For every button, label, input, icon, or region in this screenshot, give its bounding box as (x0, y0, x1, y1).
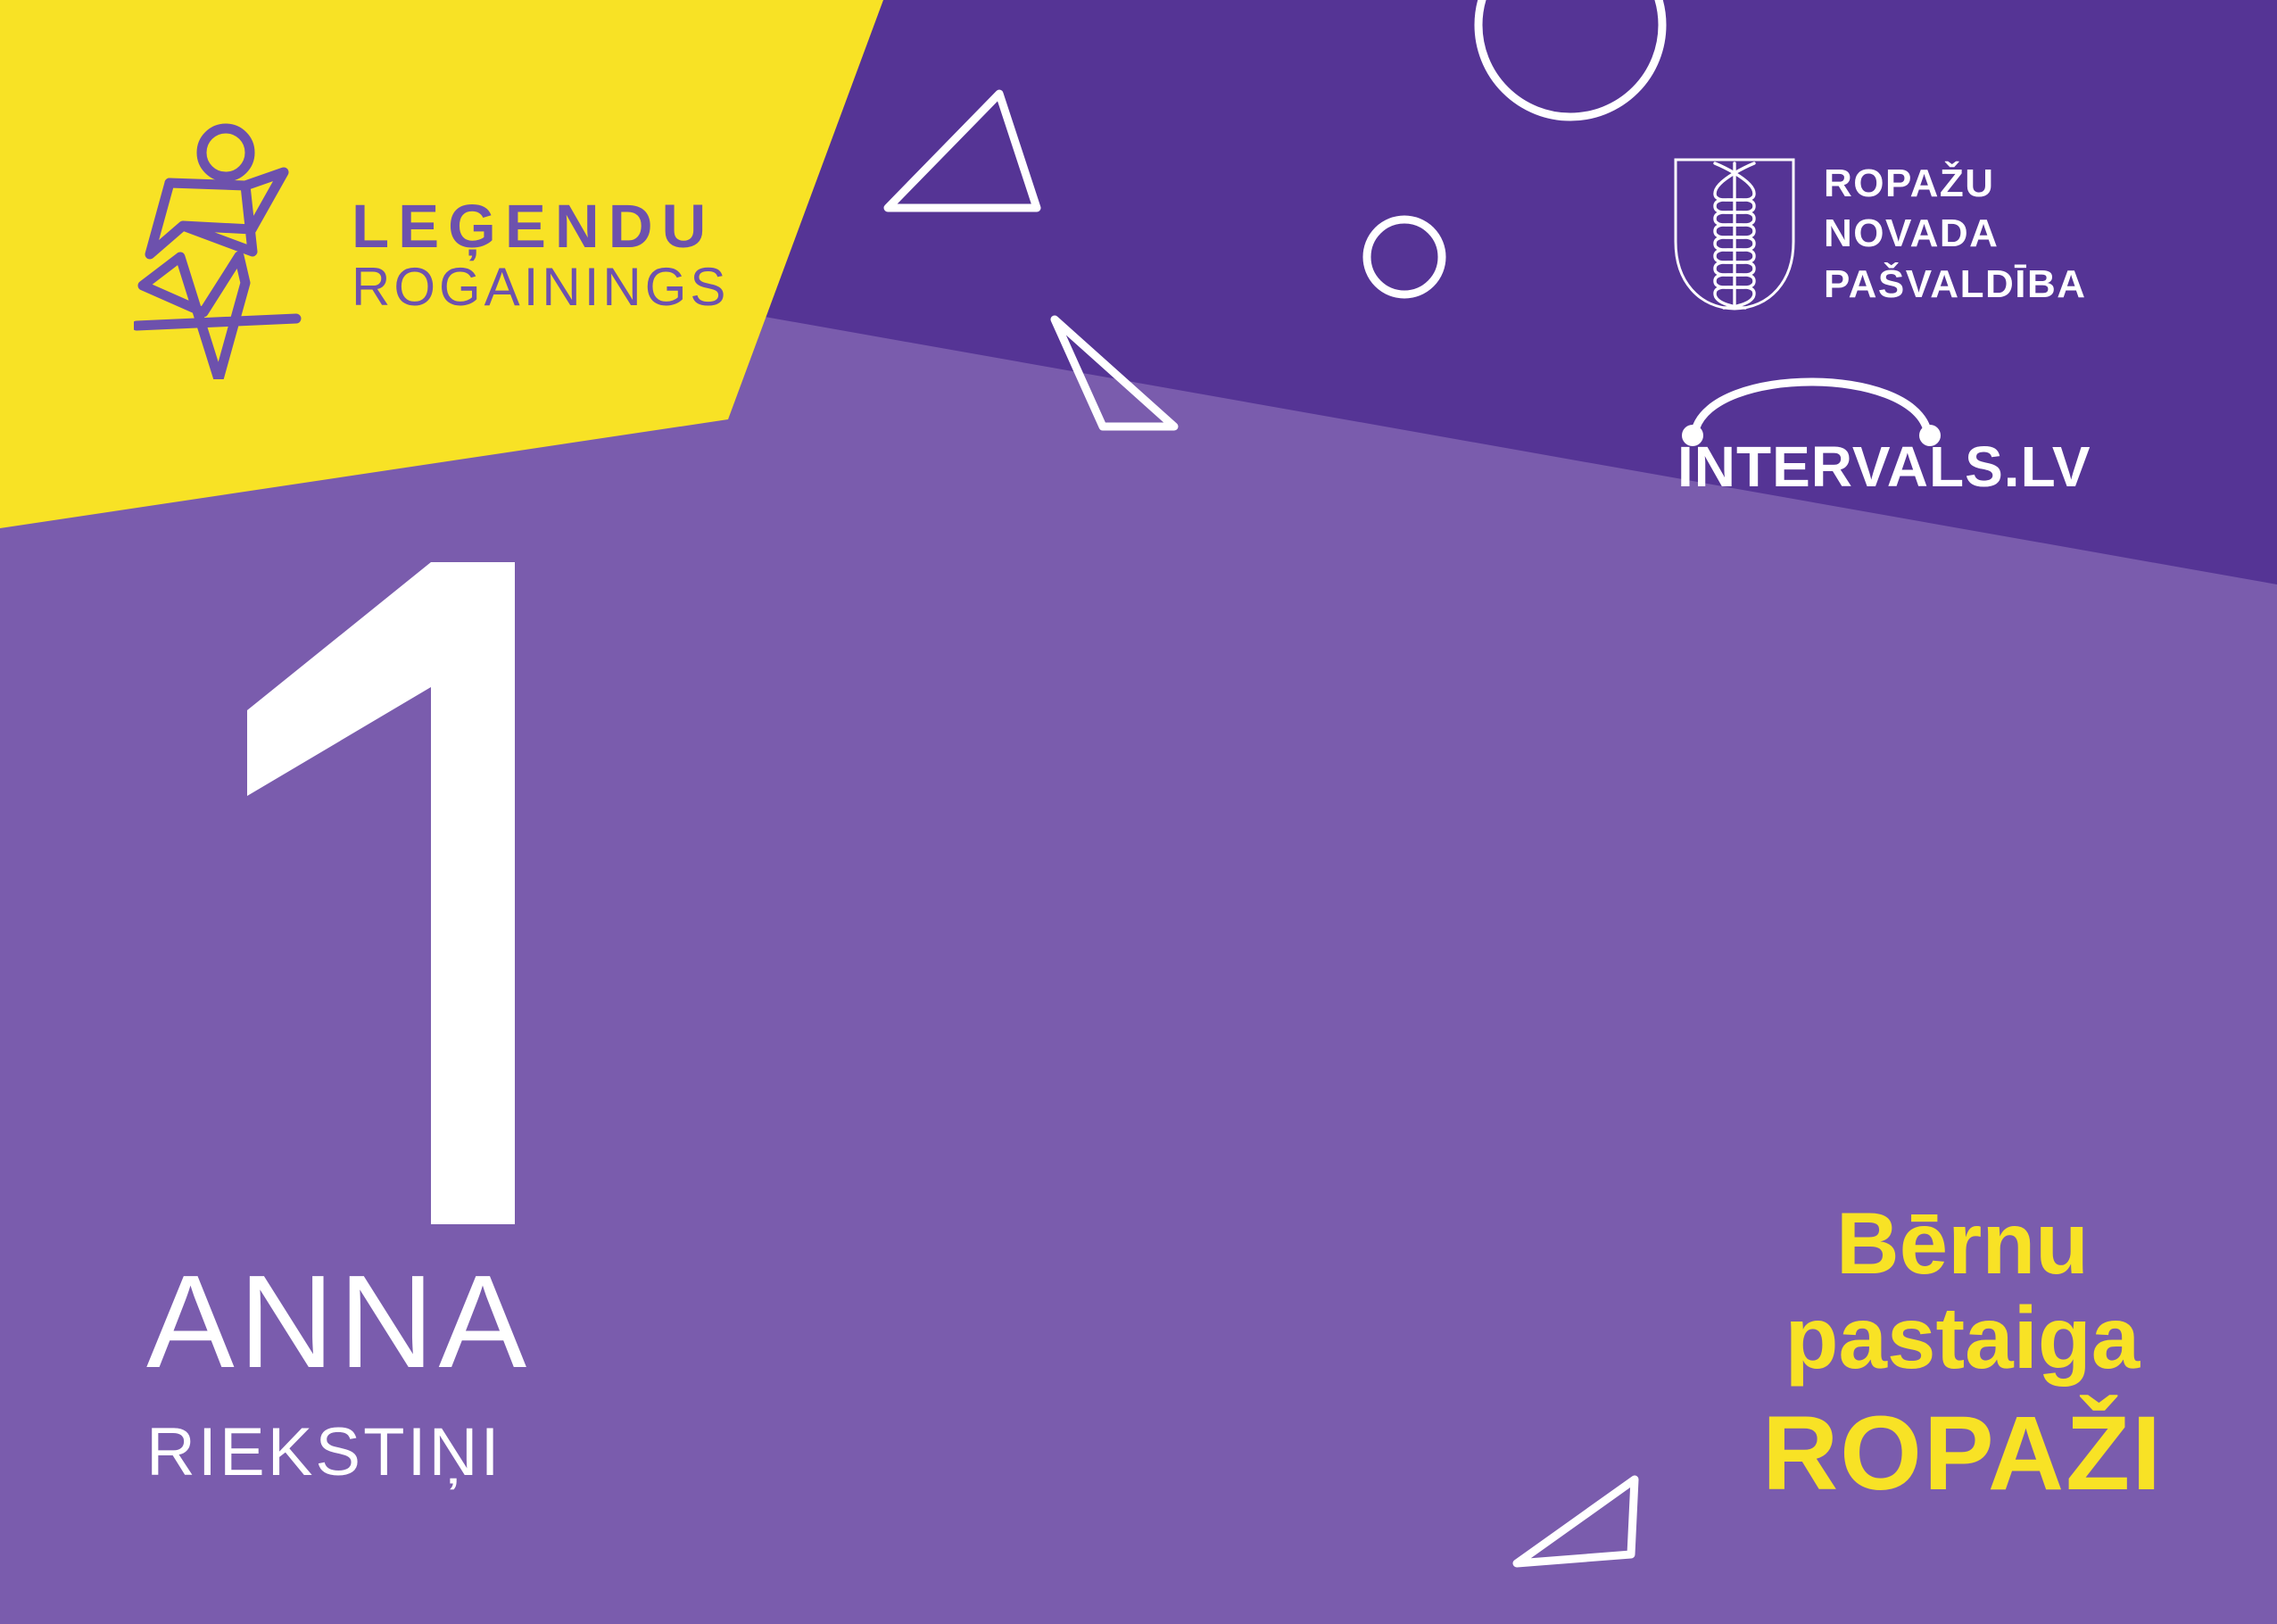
checkpoint-subtitle: RIEKSTIŅI (146, 1419, 858, 1487)
checkpoint-block: ANNA RIEKSTIŅI (145, 535, 858, 1487)
municipality-wordmark: ROPAŽU NOVADA PAŠVALDĪBA (1824, 159, 2087, 310)
partner-logos: ROPAŽU NOVADA PAŠVALDĪBA INTERVALS.LV (1672, 156, 2172, 512)
event-title-line-2: pastaiga (1762, 1291, 2163, 1386)
rogaining-runner-icon (134, 120, 321, 379)
municipality-line-3: PAŠVALDĪBA (1824, 260, 2087, 310)
municipality-logo: ROPAŽU NOVADA PAŠVALDĪBA (1672, 156, 2172, 312)
poster-canvas: LEĢENDU ROGAININGS ROPAŽU NOVADA PAŠVALD… (0, 0, 2277, 1624)
event-place: ROPAŽI (1762, 1398, 2163, 1510)
brand-wordmark: LEĢENDU ROGAININGS (352, 181, 729, 318)
municipality-line-1: ROPAŽU (1824, 159, 2087, 209)
event-title-line-1: Bērnu (1762, 1197, 2163, 1291)
ropazi-shield-emblem (1672, 156, 1797, 312)
brand-line-2: ROGAININGS (352, 257, 729, 318)
brand-logo: LEĢENDU ROGAININGS (134, 116, 741, 384)
checkpoint-name: ANNA (146, 1256, 858, 1388)
brand-line-1: LEĢENDU (352, 195, 729, 257)
intervals-wordmark: INTERVALS.LV (1677, 434, 2091, 500)
municipality-line-2: NOVADA (1824, 209, 2087, 259)
intervals-logo: INTERVALS.LV (1677, 360, 2177, 512)
event-title: Bērnu pastaiga ROPAŽI (1762, 1197, 2163, 1510)
checkpoint-number (220, 535, 528, 1240)
